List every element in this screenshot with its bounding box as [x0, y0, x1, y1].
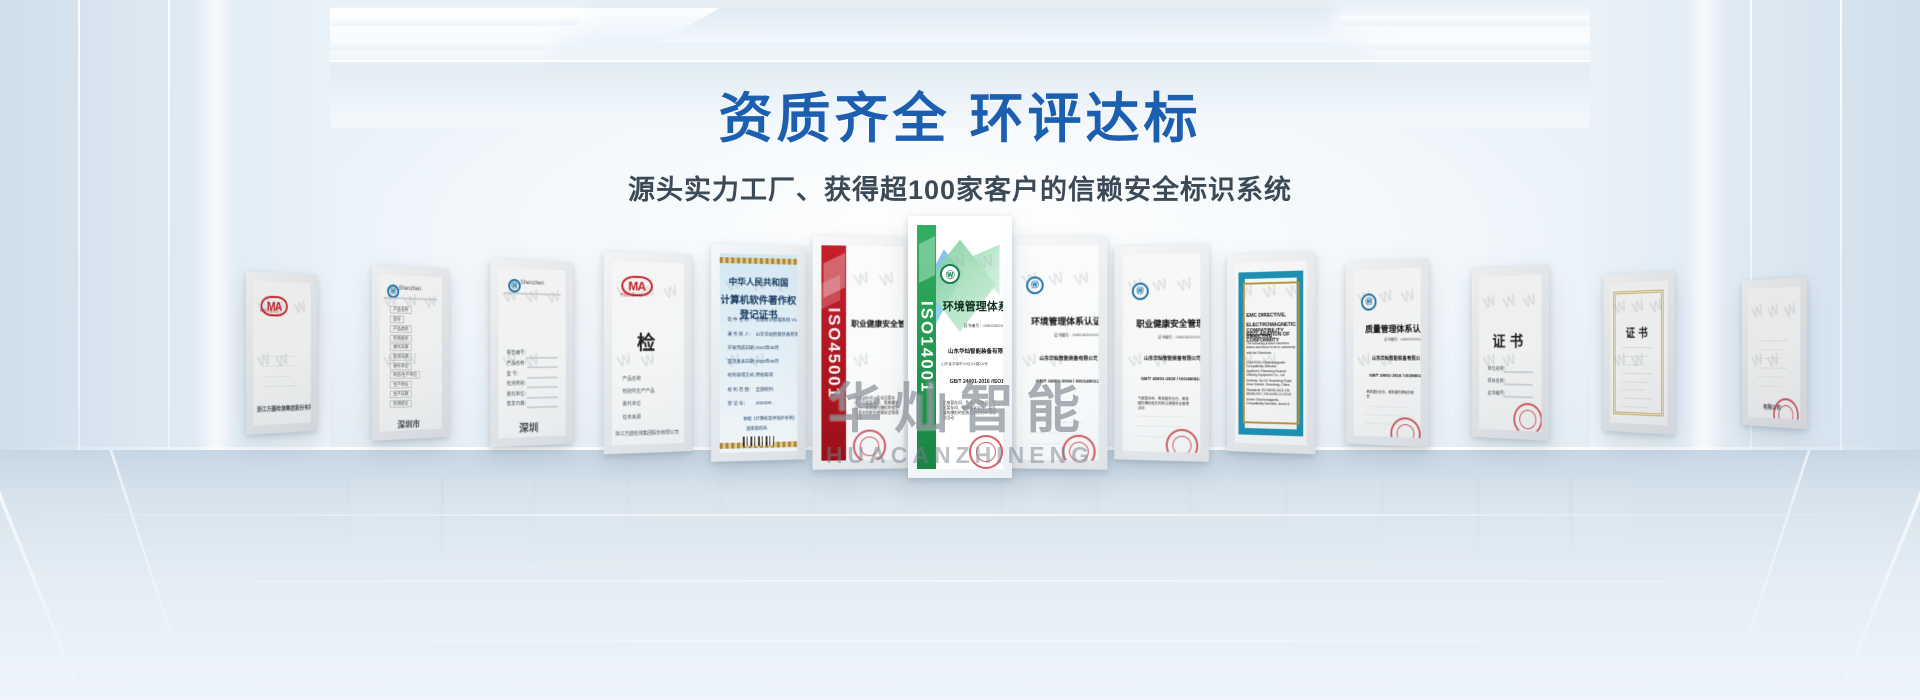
certificate-frame-border: WWWWWⓌ质量管理体系认证证书证书编号：00EI0302XXXX山东华灿智能装… — [1346, 259, 1429, 448]
certificate-frame-border: WWWWWⓌShenzhen报告编号：产品名称：型 号：检测类别：委托单位：签发… — [491, 259, 574, 448]
cert-field-rule — [1503, 396, 1532, 399]
cnas-seal: Ⓦ — [1132, 282, 1149, 300]
cert-footer: 深圳市 — [397, 417, 420, 430]
cert-field-label: 检测类别 — [389, 334, 411, 342]
cert-address: 山东省济南市XX区XX路XX号 — [941, 362, 988, 367]
cert-field-label: 权 利 范 围： — [728, 387, 754, 393]
floor-reflection-streak — [0, 580, 1920, 582]
cert-field-label: 登 记 号： — [728, 401, 748, 407]
paper-watermark: W — [524, 288, 541, 309]
official-stamp — [1513, 402, 1541, 431]
cert-title: 检 — [612, 327, 684, 355]
certificate-frame-mat: WWWWW证书 — [1610, 280, 1667, 425]
cert-field-label: 委托单位： — [507, 390, 529, 397]
cert-field-value: 全部权利 — [756, 386, 773, 392]
cert-title: 环境管理体系认证证书 — [943, 298, 1003, 314]
cert-title: 质量管理体系认证证书 — [1366, 322, 1422, 335]
certificate-frame-border: WWWWW ISO14001 Ⓦ环境管理体系认证证书证书编号：00EI0302X… — [908, 216, 1012, 478]
certificate-frame-border: WWWWW证书单位名称：项目名称：证书编号： — [1471, 265, 1548, 441]
cert-standard: GB/T 19001-2016 / ISO9001:2015 — [1370, 373, 1422, 379]
certificate-frame-border: WWWWW中华人民共和国计算机软件著作权登记证书软 件 名 称：智能标识管理系统… — [711, 244, 805, 462]
paper-watermark: W — [1521, 292, 1538, 313]
cnas-seal: Ⓦ — [1362, 293, 1377, 310]
certificate-frame-border: WWWWWⓌ环境管理体系认证证书证书编号：00EI0302XXXX山东华灿智能装… — [1008, 236, 1107, 470]
certificate-frame[interactable]: WWWWWⓌ环境管理体系认证证书证书编号：00EI0302XXXX山东华灿智能装… — [1008, 236, 1107, 470]
paper-watermark: W — [1766, 301, 1781, 322]
cert-text-line — [1136, 426, 1181, 428]
cert-text-line — [1758, 340, 1787, 341]
certificate-frame[interactable]: WWWWWⓌShenzhen报告编号：产品名称：型 号：检测类别：委托单位：签发… — [491, 259, 574, 448]
paper-watermark: W — [1127, 351, 1146, 372]
cert-field-label: 权利取得方式： — [728, 373, 759, 379]
cert-header-country: 中华人民共和国 — [720, 275, 797, 289]
certificate-paper: WWWWWⓌ职业健康安全管理体系认证证书证书编号：00EI0302XXXX山东华… — [1123, 253, 1200, 453]
certificate-frame[interactable]: WWWWW ISO45001 职业健康安全管理体系认证证书危废暂存间、危化品暂存… — [813, 236, 912, 470]
paper-watermark: W — [852, 270, 871, 291]
certificate-frame-mat: WWWWWⓌShenzhen报告编号：产品名称：型 号：检测类别：委托单位：签发… — [499, 268, 566, 439]
paper-watermark: W — [1021, 351, 1040, 372]
cert-company: 山东华灿智能装备有限公司 — [948, 347, 1003, 355]
cert-field-label: 签发日期： — [507, 400, 529, 407]
cert-field-rule — [1503, 371, 1532, 373]
official-stamp — [969, 435, 1003, 469]
paper-watermark: W — [293, 298, 308, 318]
certificate-frame[interactable]: WWWWWEMC DIRECTIVE,ELECTROMAGNETIC COMPA… — [1227, 252, 1316, 455]
official-stamp — [1062, 434, 1095, 460]
cert-text-line — [1622, 364, 1645, 365]
cert-scope: 氧氮罐安全仓、氨氮罐的爆柜的销售 — [1367, 390, 1414, 401]
cert-field-label: 型 号： — [507, 370, 522, 377]
cert-text-line — [1366, 414, 1405, 416]
cert-text-line — [1758, 385, 1781, 387]
cert-footer: 浙江方圆检测集团股份有限公司 — [615, 429, 679, 438]
cert-field-rule — [1503, 384, 1532, 386]
floor-light-ray — [1726, 450, 1810, 700]
cert-field-rule — [528, 356, 559, 358]
paper-watermark: W — [274, 351, 290, 372]
certificate-frame[interactable]: WWWWW有限公司 — [1742, 277, 1807, 429]
certificate-frame[interactable]: WWWWW中华人民共和国计算机软件著作权登记证书软 件 名 称：智能标识管理系统… — [711, 244, 805, 462]
cert-note: 依据《计算机软件保护条例》 — [743, 416, 797, 423]
certificate-frame[interactable]: WWWWWMA中国计量认证检产品名称检验所生产产品委托单位任务来源浙江方圆检测集… — [604, 252, 693, 455]
certificate-frame-border: WWWWWMA中国计量认证检产品名称检验所生产产品委托单位任务来源浙江方圆检测集… — [604, 252, 693, 455]
certificate-paper: WWWWWⓌShenzhen产品名称型号产品类别检测类别委托日期检测日期委托单位… — [379, 274, 441, 431]
ornate-band — [720, 257, 797, 265]
cert-text-line — [264, 356, 297, 357]
certificate-paper: WWWWWMA中国计量认证检产品名称检验所生产产品委托单位任务来源浙江方圆检测集… — [612, 261, 684, 446]
paper-watermark: W — [422, 293, 438, 313]
paper-watermark: W — [1073, 269, 1093, 291]
cert-body-line: Applicant: Shandong Huacan Zhineng Equip… — [1247, 370, 1298, 378]
certificate-frame-mat: WWWWWEMC DIRECTIVE,ELECTROMAGNETIC COMPA… — [1235, 261, 1307, 446]
certificate-frame[interactable]: WWWWW证书单位名称：项目名称：证书编号： — [1471, 265, 1548, 441]
cert-company: 山东华灿智能装备有限公司 — [1372, 355, 1421, 362]
cert-body-line: Address: No.XX Huacheng Road, Jinan Dist… — [1247, 379, 1298, 387]
cert-field-rule — [528, 376, 559, 378]
headline-block: 资质齐全 环评达标 源头实力工厂、获得超100家客户的信赖安全标识系统 — [0, 92, 1920, 207]
cert-field-label: 委托日期 — [389, 344, 411, 352]
certificate-frame[interactable]: WWWWWⓌ职业健康安全管理体系认证证书证书编号：00EI0302XXXX山东华… — [1114, 244, 1208, 462]
cert-title: 证书 — [1479, 328, 1541, 351]
paper-watermark: W — [1481, 293, 1497, 314]
paper-watermark: W — [1151, 276, 1170, 297]
iso-ribbon: ISO45001 — [822, 245, 847, 460]
floor-light-ray — [0, 450, 85, 700]
paper-watermark: W — [1378, 287, 1395, 308]
iso-ribbon: ISO14001 — [917, 225, 936, 469]
cert-standard: GB/T 24001-2016 / ISO14001:2015 — [1036, 379, 1098, 384]
cert-field-label: 产品名称 — [389, 306, 411, 314]
floor — [0, 450, 1920, 700]
cert-text-line — [264, 385, 297, 387]
paper-watermark: W — [852, 351, 871, 372]
cert-text-line — [1622, 356, 1648, 357]
cert-field-label: 生产地址 — [389, 381, 411, 389]
cert-body-line: 2014/30/EU Electromagnetic Compatibility… — [1247, 360, 1298, 368]
paper-watermark: W — [663, 283, 681, 304]
certificate-frame-mat: WWWWWMA中国计量认证检产品名称检验所生产产品委托单位任务来源浙江方圆检测集… — [612, 261, 684, 446]
certificate-frame-border: WWWWWⓌShenzhen产品名称型号产品类别检测类别委托日期检测日期委托单位… — [371, 265, 448, 441]
cert-field-label: 首次发表日期： — [728, 359, 759, 365]
certificate-frame[interactable]: WWWWWⓌShenzhen产品名称型号产品类别检测类别委托日期检测日期委托单位… — [371, 265, 448, 441]
cma-badge-subtitle: 中国计量认证 — [621, 292, 643, 298]
cert-text-line — [264, 376, 291, 377]
certificate-frame-border: WWWWWEMC DIRECTIVE,ELECTROMAGNETIC COMPA… — [1227, 252, 1316, 455]
barcode — [743, 436, 774, 447]
cert-field-label: 生产日期 — [389, 390, 411, 398]
certificate-frame-mat: WWWWW证书单位名称：项目名称：证书编号： — [1479, 274, 1541, 431]
cert-text-line — [1758, 349, 1784, 350]
cert-field-label: 开发完成日期： — [728, 345, 759, 351]
paper-watermark: W — [1400, 287, 1418, 308]
paper-watermark: W — [1501, 292, 1518, 313]
cert-issuer: 国家版权局 — [747, 426, 768, 432]
iso-standard-code: ISO45001 — [824, 307, 844, 398]
official-stamp — [1166, 428, 1199, 453]
cert-field-value: 2023SR... — [756, 400, 775, 405]
floor-light-ray — [1835, 450, 1920, 700]
cert-title: 职业健康安全管理体系认证证书 — [1136, 317, 1200, 331]
certificate-frame-border: WWWWW证书 — [1603, 271, 1674, 435]
paper-watermark: W — [1783, 301, 1798, 323]
cert-text-line — [1031, 421, 1083, 422]
cert-number: 证书编号：00EI0302XXXX — [1158, 335, 1200, 340]
official-stamp — [853, 430, 886, 461]
certificate-wall: WWWWWMA中国计量认证浙江方圆检测集团股份有限公司 WWWWWⓌShenzh… — [290, 228, 1630, 478]
certificate-paper: WWWWWⓌ环境管理体系认证证书证书编号：00EI0302XXXX山东华灿智能装… — [1017, 245, 1099, 460]
cert-standard: GB/T 24001-2016 /ISO14001:2015 — [950, 379, 1003, 385]
cert-field-value: 山东华灿智能装备有限公司 — [756, 331, 797, 337]
cert-text-line — [1366, 406, 1409, 408]
paper-watermark: W — [546, 288, 563, 308]
certificate-frame[interactable]: WWWWW ISO14001 Ⓦ环境管理体系认证证书证书编号：00EI0302X… — [908, 216, 1012, 478]
page-subtitle: 源头实力工厂、获得超100家客户的信赖安全标识系统 — [0, 168, 1920, 207]
cma-badge-subtitle: 中国计量认证 — [259, 308, 278, 314]
cert-text-line — [1758, 358, 1781, 359]
certificate-paper: WWWWWⓌ质量管理体系认证证书证书编号：00EI0302XXXX山东华灿智能装… — [1354, 268, 1421, 439]
cert-field-label: 委托单位 — [389, 362, 411, 370]
paper-watermark: W — [256, 351, 272, 372]
certificate-paper: WWWWW ISO45001 职业健康安全管理体系认证证书危废暂存间、危化品暂存… — [822, 245, 904, 460]
certificate-frame-mat: WWWWWMA中国计量认证浙江方圆检测集团股份有限公司 — [253, 280, 310, 425]
cert-title: 环境管理体系认证证书 — [1031, 314, 1098, 327]
certificate-frame-mat: WWWWWⓌ环境管理体系认证证书证书编号：00EI0302XXXX山东华灿智能装… — [1017, 245, 1099, 460]
certificate-paper: WWWWW有限公司 — [1748, 286, 1800, 419]
cnas-seal: Ⓦ — [1026, 276, 1043, 294]
paper-watermark: W — [1047, 270, 1066, 292]
certificate-frame[interactable]: WWWWWMA中国计量认证浙江方圆检测集团股份有限公司 — [245, 271, 316, 435]
certificate-paper: WWWWW证书 — [1610, 280, 1667, 425]
cert-field-value: 智能标识管理系统 V1.0 — [756, 317, 797, 323]
paper-watermark: W — [1176, 275, 1195, 296]
certificate-frame-mat: WWWWW ISO45001 职业健康安全管理体系认证证书危废暂存间、危化品暂存… — [822, 245, 904, 460]
certificate-frame-mat: WWWWW中华人民共和国计算机软件著作权登记证书软 件 名 称：智能标识管理系统… — [720, 253, 797, 453]
certificate-frame-mat: WWWWWⓌShenzhen产品名称型号产品类别检测类别委托日期检测日期委托单位… — [379, 274, 441, 431]
cert-field-label: 检测类别： — [507, 380, 529, 387]
floor-light-ray — [109, 450, 193, 700]
certificate-paper: WWWWWEMC DIRECTIVE,ELECTROMAGNETIC COMPA… — [1235, 261, 1307, 446]
cert-field-rule — [528, 366, 559, 368]
page-title: 资质齐全 环评达标 — [0, 92, 1920, 146]
cert-standard: GB/T 45001-2020 / ISO45001:2018 — [1141, 377, 1200, 382]
cert-field-rule — [528, 386, 559, 388]
certificate-frame-mat: WWWWWⓌ质量管理体系认证证书证书编号：00EI0302XXXX山东华灿智能装… — [1354, 268, 1421, 439]
cert-field-label: 检验所生产产品 — [623, 388, 655, 395]
certificate-frame-mat: WWWWW有限公司 — [1748, 286, 1800, 419]
issuing-org: Shenzhen — [521, 280, 545, 287]
cert-field-label: 产品名称 — [623, 375, 641, 382]
certificate-frame-border: WWWWW ISO45001 职业健康安全管理体系认证证书危废暂存间、危化品暂存… — [813, 236, 912, 470]
cert-footer: 深圳 — [519, 420, 538, 436]
cert-field-label: 著 作 权 人： — [728, 331, 754, 337]
cert-scope: 危废暂存间、危化品暂存间、气瓶暂存间、氧舱罐安全仓、氨氮罐的爆柜的销售及相关的职… — [854, 396, 900, 421]
certificate-paper: WWWWW ISO14001 Ⓦ环境管理体系认证证书证书编号：00EI0302X… — [917, 225, 1003, 469]
cert-field-label: 任务来源 — [623, 413, 641, 420]
certificate-frame-border: WWWWW有限公司 — [1742, 277, 1807, 429]
paper-watermark: W — [1750, 302, 1764, 323]
cert-field-label: 检测日期 — [389, 353, 411, 361]
official-stamp — [1391, 417, 1421, 438]
cert-body-line: The following product has been tested an… — [1247, 341, 1298, 349]
cert-body-line: Standards: EN 55032:2015, EN 55035:2017,… — [1247, 388, 1298, 396]
cert-body-line: with the Directives: — [1247, 351, 1298, 355]
cert-scope: 危废暂存间、危化品暂存间、气瓶暂存间、氧舱罐安全仓、氨氮罐的爆柜的销售及相关的环… — [943, 401, 998, 421]
issuing-org: Shenzhen — [398, 286, 421, 293]
cnas-seal: Ⓦ — [508, 278, 520, 292]
cert-text-line — [1622, 347, 1652, 348]
cert-field-rule — [528, 396, 559, 399]
ribbon-corner-accent — [919, 236, 935, 283]
cert-number: 证书编号：00EI0302XXXX — [963, 323, 1003, 329]
certificate-paper: WWWWWMA中国计量认证浙江方圆检测集团股份有限公司 — [253, 280, 310, 425]
hero-banner: 资质齐全 环评达标 源头实力工厂、获得超100家客户的信赖安全标识系统 WWWW… — [0, 0, 1920, 700]
cert-field-label: 制造/生产单位 — [389, 371, 419, 379]
certificate-paper: WWWWW中华人民共和国计算机软件著作权登记证书软 件 名 称：智能标识管理系统… — [720, 253, 797, 453]
certificate-frame-mat: WWWWW ISO14001 Ⓦ环境管理体系认证证书证书编号：00EI0302X… — [917, 225, 1003, 469]
certificate-frame[interactable]: WWWWW证书 — [1603, 271, 1674, 435]
cert-text-line — [1136, 416, 1185, 418]
cert-title: 职业健康安全管理体系认证证书 — [851, 319, 903, 330]
certificate-paper: WWWWWⓌShenzhen报告编号：产品名称：型 号：检测类别：委托单位：签发… — [499, 268, 566, 439]
paper-watermark: W — [1766, 351, 1781, 372]
cert-text-line — [1758, 376, 1784, 378]
cert-footer: 浙江方圆检测集团股份有限公司 — [256, 403, 310, 414]
cert-field-value: 2023年06月 — [756, 359, 779, 365]
cert-field-label: 型号 — [389, 315, 403, 323]
cert-body-line: Annex: Electromagnetic Compatibility Dir… — [1247, 398, 1298, 407]
certificate-frame-mat: WWWWWⓌ职业健康安全管理体系认证证书证书编号：00EI0302XXXX山东华… — [1123, 253, 1200, 453]
cert-field-label: 委托单位 — [623, 400, 641, 407]
cert-field-label: 软 件 名 称： — [728, 317, 754, 323]
iso-standard-code: ISO14001 — [917, 301, 936, 394]
paper-watermark: W — [1750, 351, 1764, 372]
cert-field-value: 2023年05月 — [756, 345, 779, 351]
cert-company: 山东华灿智能装备有限公司 — [1039, 355, 1098, 362]
floor-reflection-streak — [0, 640, 1920, 642]
cert-scope: 气瓶暂存间、氧氮罐安全仓、氨氮罐的爆柜相关的职业健康安全管理活动 — [1138, 396, 1192, 411]
cert-text-line — [1031, 432, 1078, 433]
cert-field-label: 产品名称： — [507, 360, 529, 367]
certificate-paper: WWWWW证书单位名称：项目名称：证书编号： — [1479, 274, 1541, 431]
certificate-frame[interactable]: WWWWWⓌ质量管理体系认证证书证书编号：00EI0302XXXX山东华灿智能装… — [1346, 259, 1429, 448]
cert-field-label: 报告编号： — [507, 350, 529, 357]
certificate-frame-border: WWWWWⓌ职业健康安全管理体系认证证书证书编号：00EI0302XXXX山东华… — [1114, 244, 1208, 462]
cert-title-line: EMC DIRECTIVE, — [1247, 313, 1298, 319]
cert-company: 山东华灿智能装备有限公司 — [1144, 355, 1200, 362]
paper-watermark: W — [878, 270, 897, 291]
cert-field-rule — [528, 406, 559, 409]
cert-field-value: 原始取得 — [756, 373, 773, 379]
cert-number: 证书编号：00EI0302XXXX — [1384, 338, 1421, 343]
cert-field-label: 检测结论 — [389, 399, 411, 407]
cert-number: 证书编号：00EI0302XXXX — [1054, 334, 1098, 339]
cert-field-label: 产品类别 — [389, 325, 411, 333]
certificate-frame-border: WWWWWMA中国计量认证浙江方圆检测集团股份有限公司 — [245, 271, 316, 435]
floor-reflection-streak — [0, 514, 1920, 516]
official-stamp — [1773, 397, 1798, 419]
cert-title: 证书 — [1610, 324, 1667, 341]
